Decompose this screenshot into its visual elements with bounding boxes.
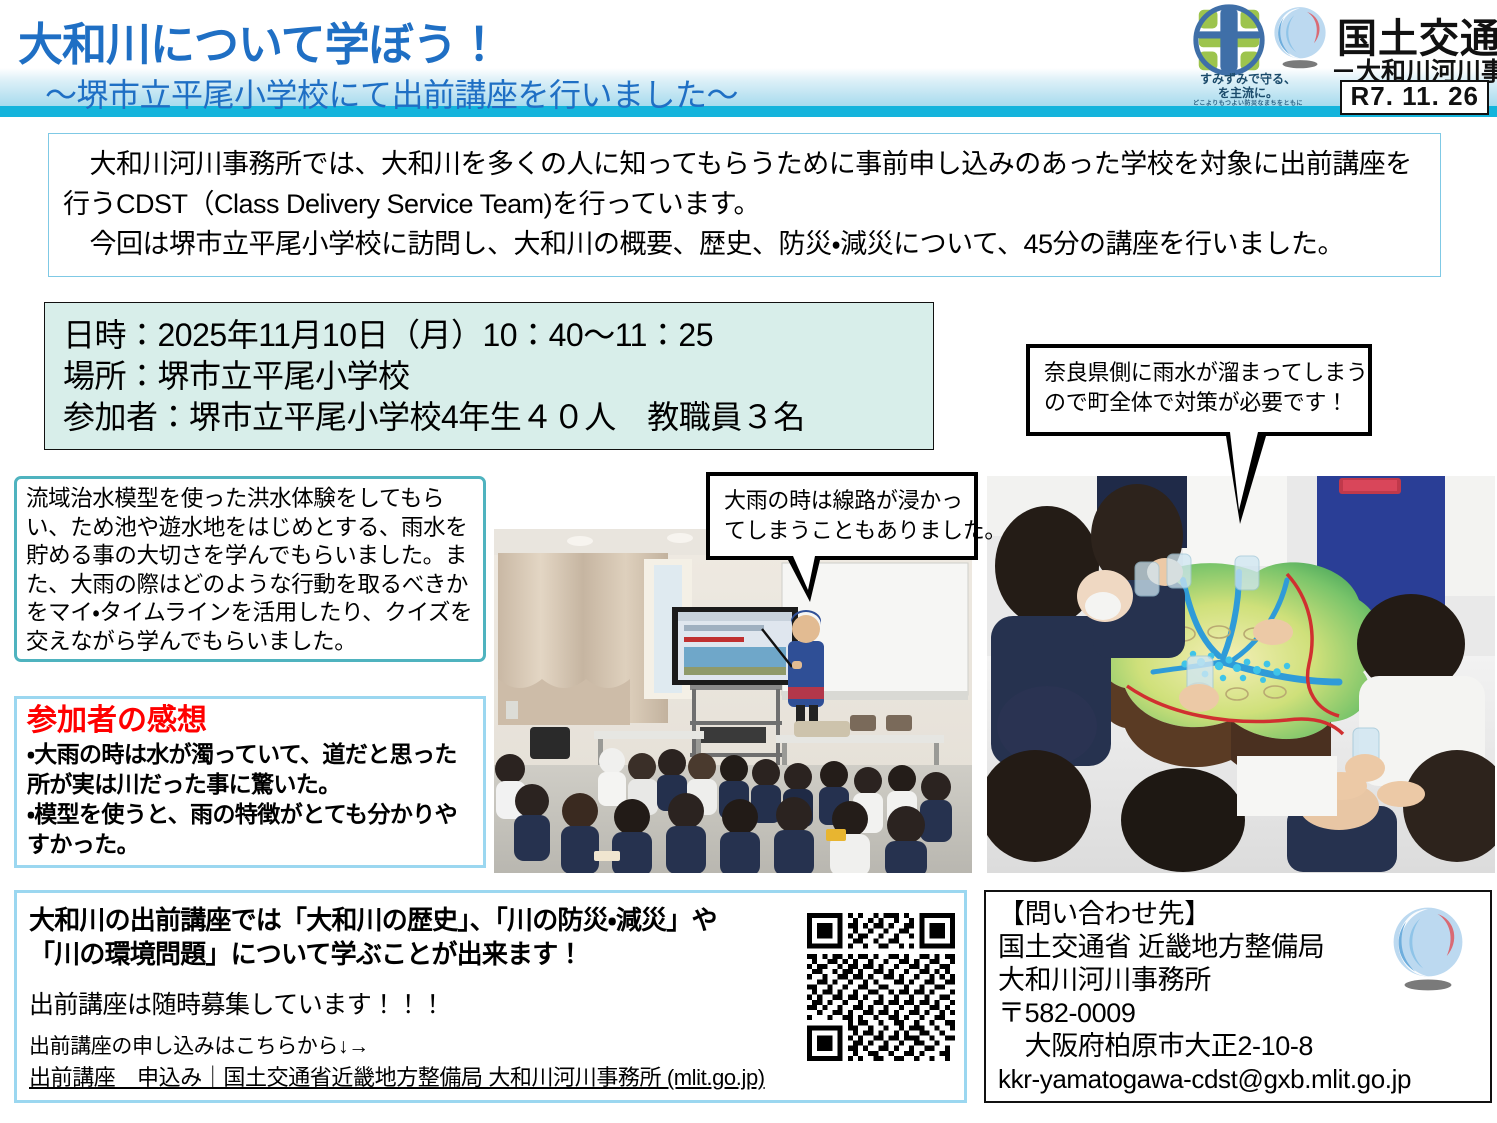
speech-bubble-nara: 奈良県側に雨水が溜まってしまう ので町全体で対策が必要です！ <box>1026 344 1372 436</box>
slogan-line-3: どこよりもつよい防災なまちをともに <box>1183 98 1313 107</box>
bubble-tail-inner <box>1230 432 1258 510</box>
impressions-box: 参加者の感想 ・大雨の時は水が濁っていて、道だと思った所が実は川だった事に驚いた… <box>14 696 486 868</box>
intro-box: 大和川河川事務所では、大和川を多くの人に知ってもらうために事前申し込みのあった学… <box>48 133 1441 277</box>
event-participants: 参加者：堺市立平尾小学校4年生４０人 教職員３名 <box>63 397 933 438</box>
event-place: 場所：堺市立平尾小学校 <box>63 356 933 397</box>
bubble-nara-line-2: ので町全体で対策が必要です！ <box>1044 388 1356 418</box>
contact-email[interactable]: kkr-yamatogawa-cdst@gxb.mlit.go.jp <box>998 1063 1490 1096</box>
event-datetime: 日時：2025年11月10日（月）10：40～11：25 <box>63 315 933 356</box>
poster-page: 大和川について学ぼう！ ～堺市立平尾小学校にて出前講座を行いました～ <box>0 0 1497 1123</box>
photo-classroom-lecture <box>494 529 972 873</box>
bubble-tail-inner <box>793 556 815 590</box>
bubble-rail-line-1: 大雨の時は線路が浸かっ <box>724 486 962 516</box>
wave-mark-icon <box>1388 906 1468 992</box>
application-link[interactable]: 出前講座 申込み｜国土交通省近畿地方整備局 大和川河川事務所 (mlit.go.… <box>29 1063 765 1093</box>
promo-box: 大和川の出前講座では「大和川の歴史」、「川の防災・減災」や 「川の環境問題」につ… <box>14 890 967 1103</box>
impression-item-1: ・大雨の時は水が濁っていて、道だと思った所が実は川だった事に驚いた。 <box>27 739 477 799</box>
intro-paragraph-2: 今回は堺市立平尾小学校に訪問し、大和川の概要、歴史、防災・減災について、45分の… <box>63 224 1426 264</box>
contact-address: 大阪府柏原市大正2-10-8 <box>998 1030 1490 1063</box>
model-experience-text: 流域治水模型を使った洪水体験をしてもらい、ため池や遊水地をはじめとする、雨水を貯… <box>26 485 476 656</box>
bubble-nara-line-1: 奈良県側に雨水が溜まってしまう <box>1044 358 1356 388</box>
impression-item-2: ・模型を使うと、雨の特徴がとても分かりやすかった。 <box>27 799 477 859</box>
model-experience-box: 流域治水模型を使った洪水体験をしてもらい、ため池や遊水地をはじめとする、雨水を貯… <box>14 476 486 662</box>
impressions-title: 参加者の感想 <box>27 703 477 739</box>
event-info-box: 日時：2025年11月10日（月）10：40～11：25 場所：堺市立平尾小学校… <box>44 302 934 450</box>
contact-postal: 〒582-0009 <box>998 997 1490 1030</box>
mlit-emblem-icon <box>1193 4 1265 76</box>
page-title: 大和川について学ぼう！ <box>18 8 501 73</box>
page-subtitle: ～堺市立平尾小学校にて出前講座を行いました～ <box>45 70 738 116</box>
intro-paragraph-1: 大和川河川事務所では、大和川を多くの人に知ってもらうために事前申し込みのあった学… <box>63 144 1426 224</box>
speech-bubble-railway: 大雨の時は線路が浸かっ てしまうこともありました。 <box>706 472 978 560</box>
wave-mark-icon <box>1269 6 1331 70</box>
contact-box: 【問い合わせ先】 国土交通省 近畿地方整備局 大和川河川事務所 〒582-000… <box>984 890 1492 1103</box>
qr-code-icon[interactable] <box>807 913 955 1061</box>
date-badge: R7. 11. 26 <box>1340 80 1489 115</box>
photo-watershed-model <box>987 476 1495 873</box>
bubble-rail-line-2: てしまうこともありました。 <box>724 516 962 546</box>
